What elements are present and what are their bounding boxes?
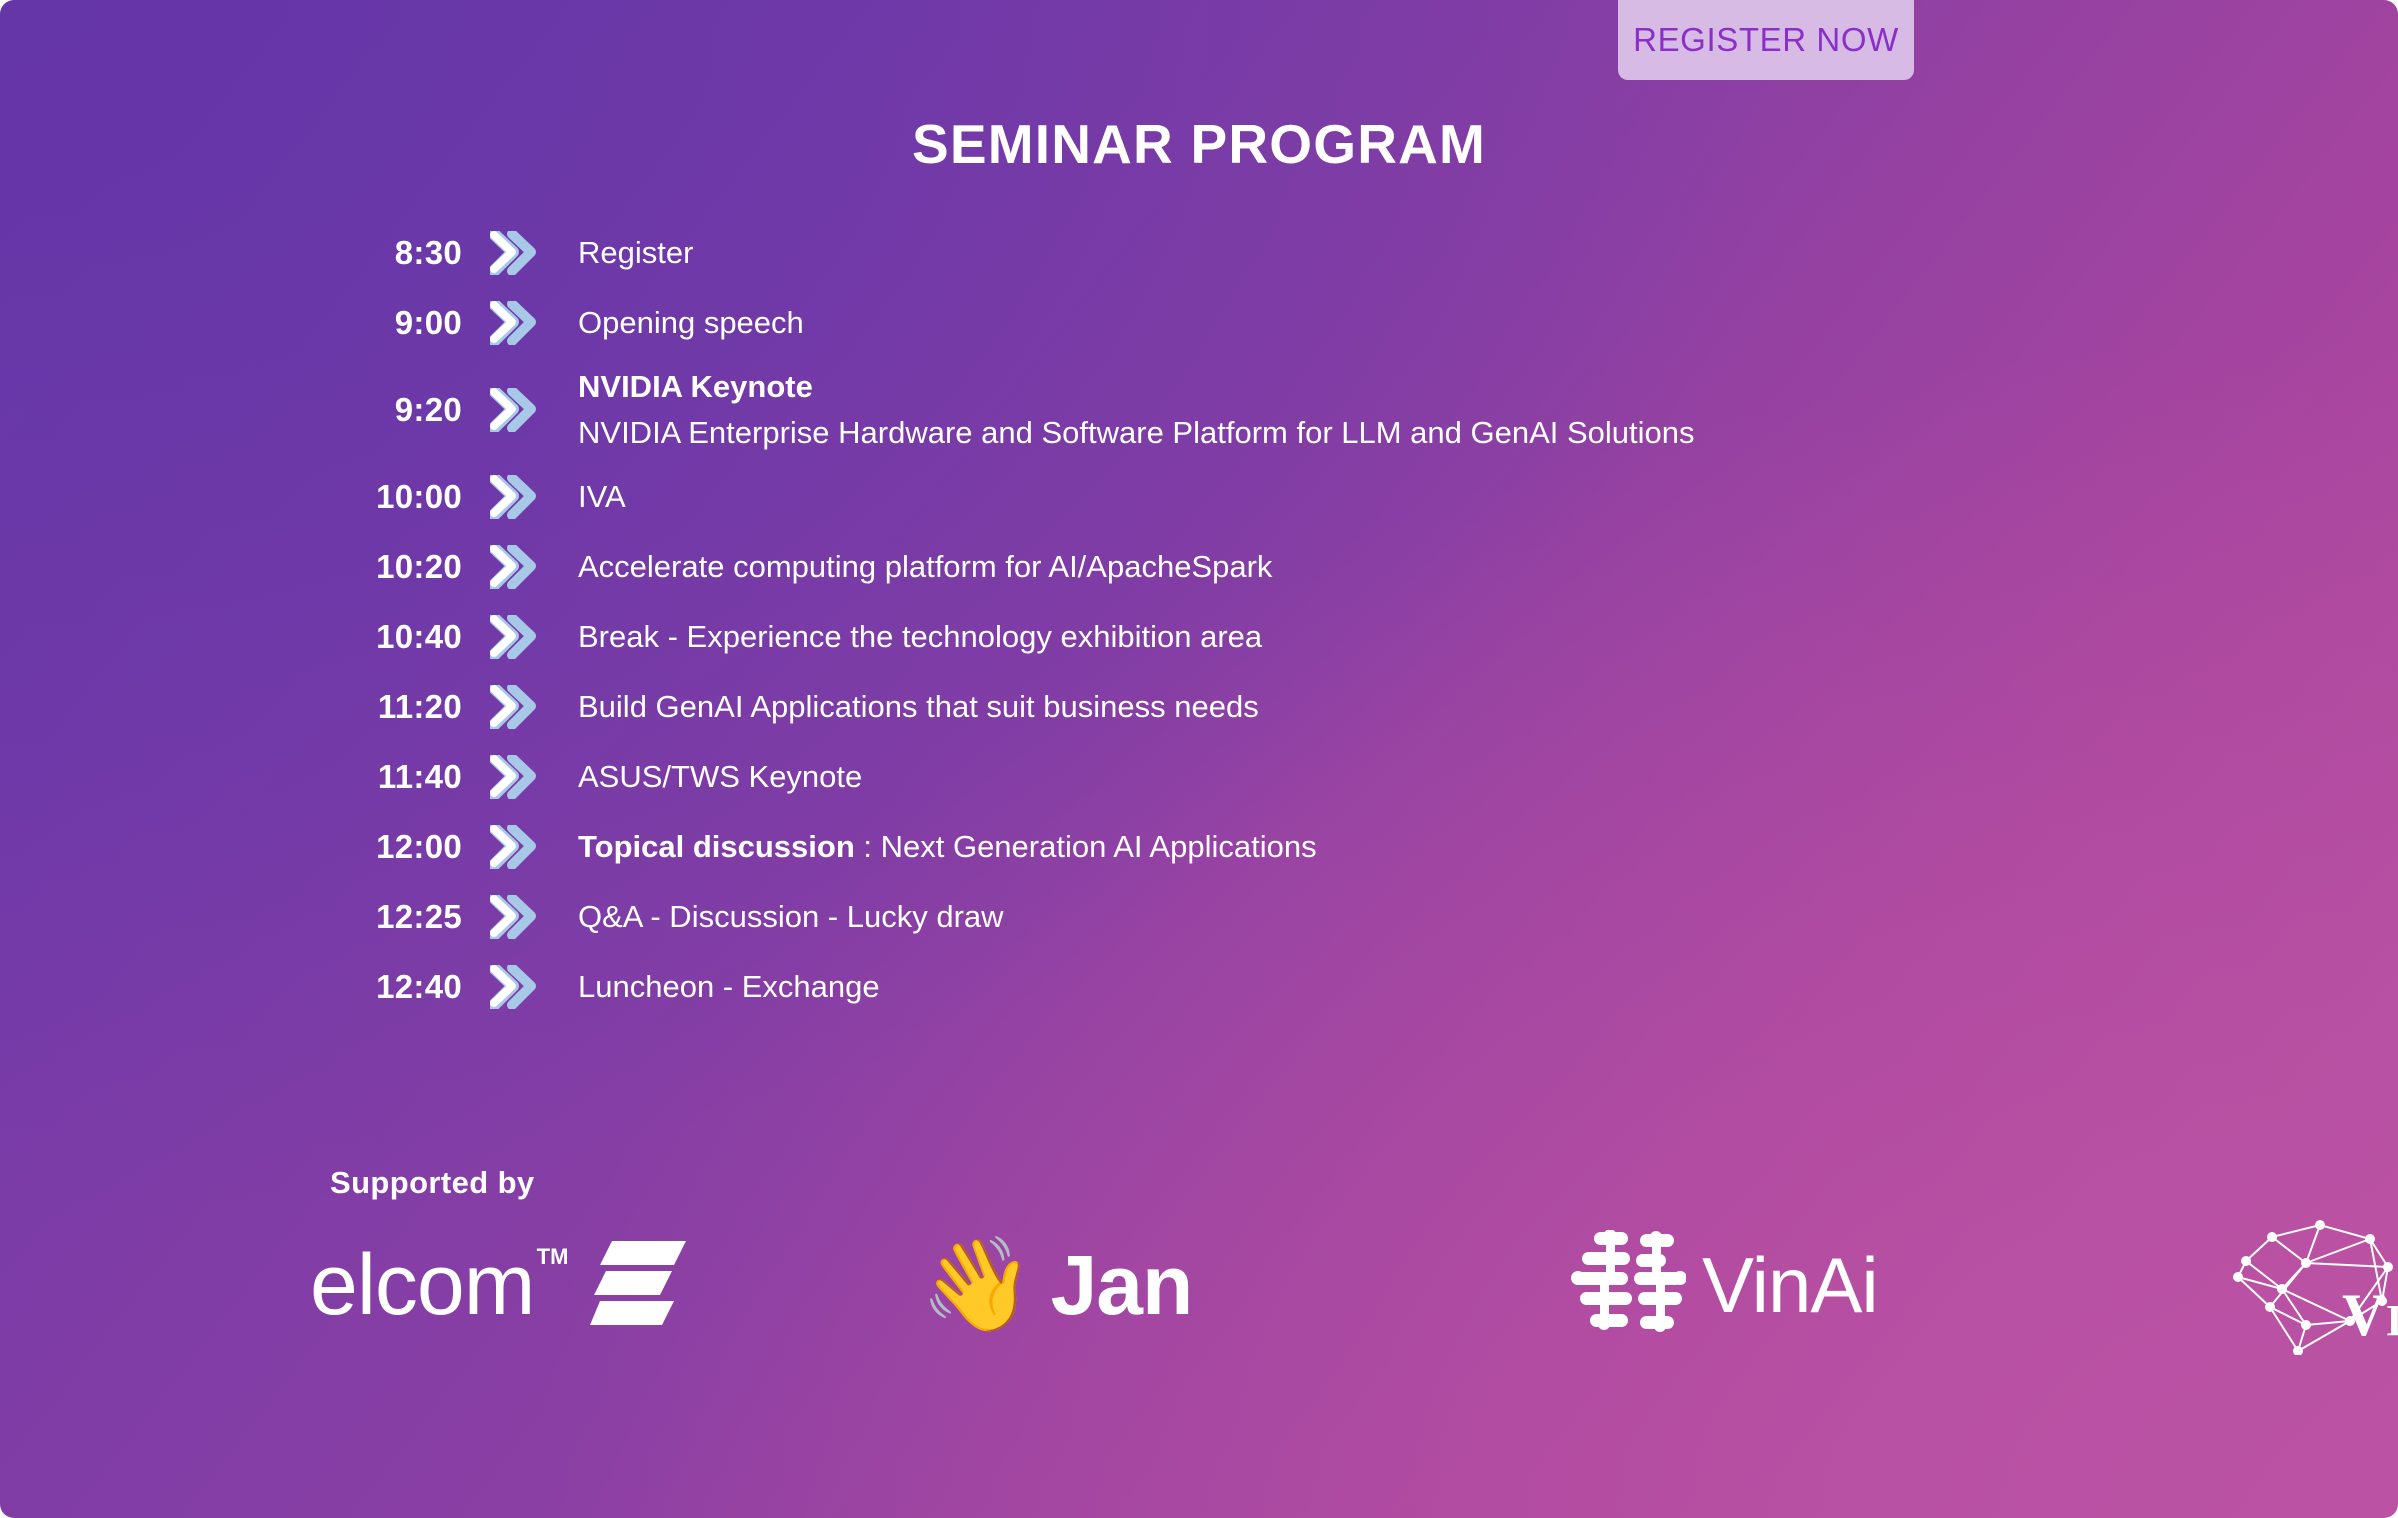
double-chevron-icon <box>490 685 560 729</box>
schedule-row: 12:00Topical discussion : Next Generatio… <box>330 812 2130 882</box>
seminar-program-slide: REGISTER NOW SEMINAR PROGRAM 8:30Registe… <box>0 0 2398 1518</box>
schedule-title: ASUS/TWS Keynote <box>578 759 862 794</box>
double-chevron-icon <box>490 545 560 589</box>
schedule-title: Topical discussion <box>578 829 855 864</box>
schedule-text: IVA <box>578 476 2130 518</box>
schedule-row: 8:30Register <box>330 218 2130 288</box>
schedule-time: 9:00 <box>330 304 462 342</box>
vinai-wordmark: VinAi <box>1702 1246 1878 1324</box>
double-chevron-icon <box>490 755 560 799</box>
supported-by-label: Supported by <box>330 1165 535 1201</box>
elcom-wordmark: elcom TM <box>310 1242 534 1328</box>
schedule-time: 12:25 <box>330 898 462 936</box>
vinai-circuit-icon <box>1570 1230 1686 1341</box>
sponsor-logos: elcom TM 👋 Jan <box>300 1215 2130 1355</box>
schedule-row: 11:20Build GenAI Applications that suit … <box>330 672 2130 742</box>
schedule-text: Build GenAI Applications that suit busin… <box>578 686 2130 728</box>
schedule-text: Topical discussion : Next Generation AI … <box>578 826 2130 868</box>
register-now-button[interactable]: REGISTER NOW <box>1618 0 1914 80</box>
schedule-time: 11:20 <box>330 688 462 726</box>
schedule-time: 10:00 <box>330 478 462 516</box>
schedule-list: 8:30Register9:00Opening speech9:20NVIDIA… <box>330 218 2130 1022</box>
logo-vinbrain: VINBRAIN <box>2050 1215 2398 1355</box>
double-chevron-icon <box>490 895 560 939</box>
schedule-title: Build GenAI Applications that suit busin… <box>578 689 1259 724</box>
schedule-text: ASUS/TWS Keynote <box>578 756 2130 798</box>
schedule-text: Luncheon - Exchange <box>578 966 2130 1008</box>
schedule-text: NVIDIA KeynoteNVIDIA Enterprise Hardware… <box>578 366 2130 454</box>
double-chevron-icon <box>490 825 560 869</box>
schedule-time: 12:40 <box>330 968 462 1006</box>
schedule-row: 10:40Break - Experience the technology e… <box>330 602 2130 672</box>
trademark-icon: TM <box>537 1246 569 1268</box>
waving-hand-icon: 👋 <box>920 1239 1035 1331</box>
schedule-text: Register <box>578 232 2130 274</box>
schedule-title: IVA <box>578 479 626 514</box>
page-title: SEMINAR PROGRAM <box>0 112 2398 176</box>
schedule-title: Luncheon - Exchange <box>578 969 880 1004</box>
schedule-title: Register <box>578 235 693 270</box>
double-chevron-icon <box>490 388 560 432</box>
double-chevron-icon <box>490 965 560 1009</box>
logo-jan: 👋 Jan <box>790 1215 1400 1355</box>
elcom-word-text: elcom <box>310 1237 534 1333</box>
vinbrain-word-cap: V <box>2342 1282 2386 1348</box>
schedule-row: 10:20Accelerate computing platform for A… <box>330 532 2130 602</box>
elcom-e-mark-icon <box>590 1237 686 1334</box>
double-chevron-icon <box>490 475 560 519</box>
schedule-text: Break - Experience the technology exhibi… <box>578 616 2130 658</box>
vinbrain-word-rest: INBRAIN <box>2386 1296 2398 1345</box>
schedule-text: Opening speech <box>578 302 2130 344</box>
double-chevron-icon <box>490 615 560 659</box>
schedule-time: 11:40 <box>330 758 462 796</box>
double-chevron-icon <box>490 301 560 345</box>
schedule-text: Accelerate computing platform for AI/Apa… <box>578 546 2130 588</box>
schedule-row: 12:25Q&A - Discussion - Lucky draw <box>330 882 2130 952</box>
schedule-row: 12:40Luncheon - Exchange <box>330 952 2130 1022</box>
double-chevron-icon <box>490 231 560 275</box>
schedule-time: 9:20 <box>330 391 462 429</box>
schedule-time: 10:40 <box>330 618 462 656</box>
schedule-time: 10:20 <box>330 548 462 586</box>
schedule-title: Q&A - Discussion - Lucky draw <box>578 899 1004 934</box>
schedule-title-suffix: : Next Generation AI Applications <box>855 829 1317 864</box>
schedule-row: 9:20NVIDIA KeynoteNVIDIA Enterprise Hard… <box>330 358 2130 462</box>
schedule-row: 9:00Opening speech <box>330 288 2130 358</box>
logo-vinai: VinAi <box>1400 1215 2050 1355</box>
schedule-title: NVIDIA Keynote <box>578 369 813 404</box>
schedule-subtitle: NVIDIA Enterprise Hardware and Software … <box>578 412 2130 454</box>
logo-elcom: elcom TM <box>300 1215 790 1355</box>
schedule-row: 10:00IVA <box>330 462 2130 532</box>
schedule-time: 8:30 <box>330 234 462 272</box>
schedule-title: Break - Experience the technology exhibi… <box>578 619 1262 654</box>
schedule-title: Accelerate computing platform for AI/Apa… <box>578 549 1272 584</box>
vinbrain-wordmark: VINBRAIN <box>2342 1285 2398 1345</box>
schedule-row: 11:40ASUS/TWS Keynote <box>330 742 2130 812</box>
schedule-title: Opening speech <box>578 305 804 340</box>
schedule-text: Q&A - Discussion - Lucky draw <box>578 896 2130 938</box>
jan-wordmark: Jan <box>1051 1243 1193 1327</box>
schedule-time: 12:00 <box>330 828 462 866</box>
